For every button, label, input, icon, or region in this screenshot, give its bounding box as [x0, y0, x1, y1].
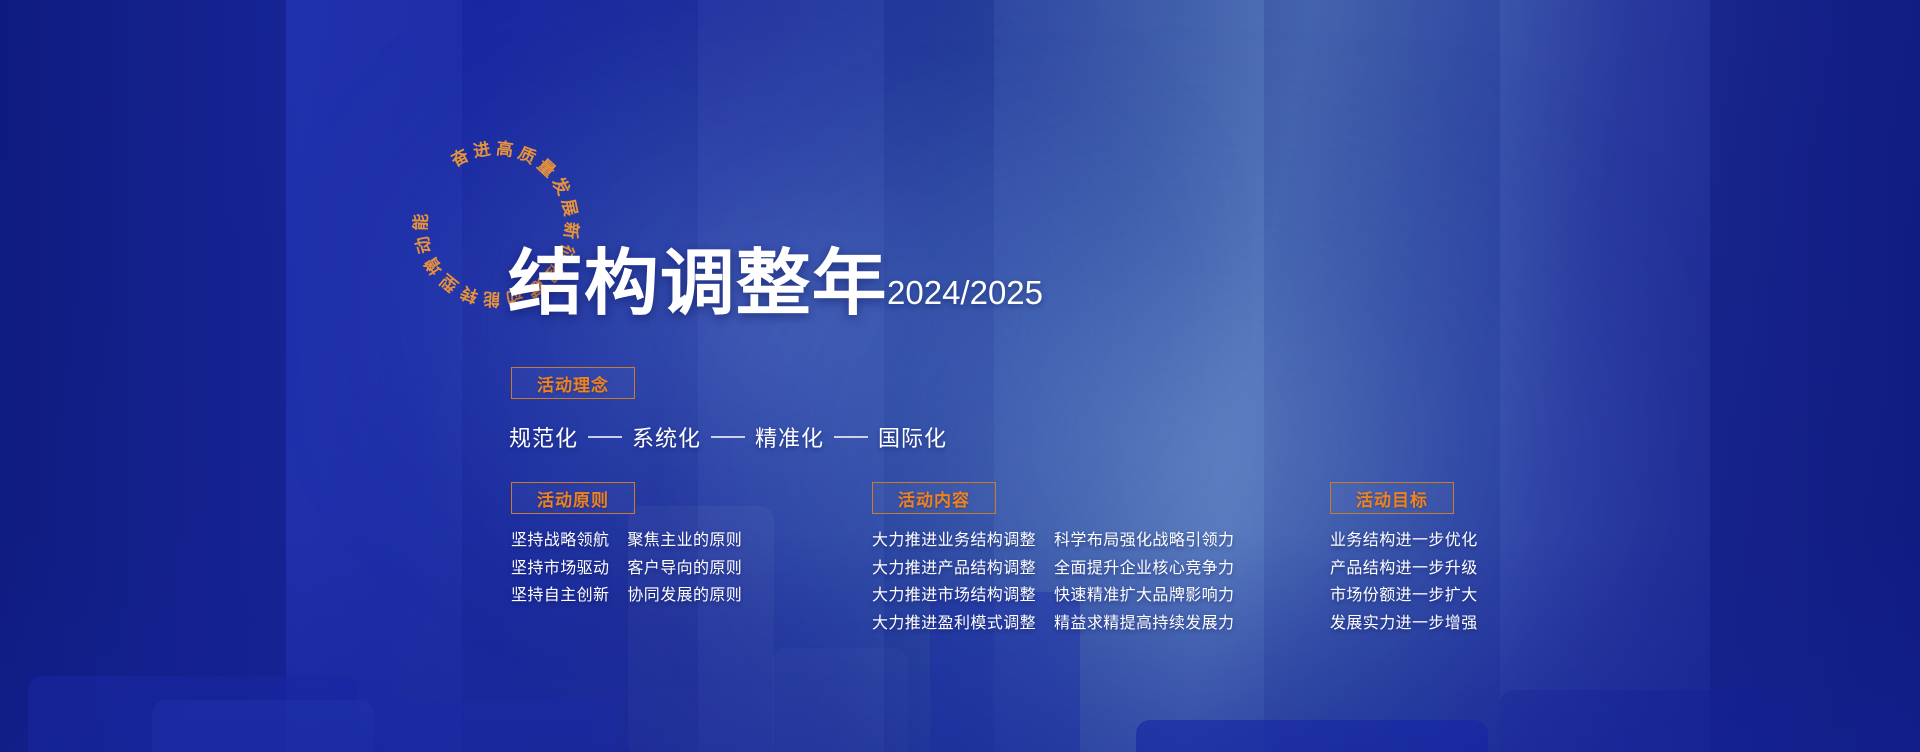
list-item-primary: 坚持战略领航: [511, 530, 609, 553]
emblem-char: 增: [419, 252, 446, 278]
list-item: 坚持自主创新协同发展的原则: [511, 585, 742, 608]
badge-activity-content[interactable]: 活动内容: [872, 482, 996, 514]
list-item: 产品结构进一步升级: [1330, 558, 1478, 581]
column-activity-goals: 活动目标 业务结构进一步优化产品结构进一步升级市场份额进一步扩大发展实力进一步增…: [1330, 482, 1478, 636]
list-item: 大力推进产品结构调整全面提升企业核心竞争力: [872, 558, 1234, 581]
list-item: 坚持市场驱动客户导向的原则: [511, 558, 742, 581]
list-item-secondary: 客户导向的原则: [627, 558, 742, 581]
list-item-secondary: 聚焦主业的原则: [627, 530, 742, 553]
list-item: 业务结构进一步优化: [1330, 530, 1478, 553]
column-activity-principles: 活动原则 坚持战略领航聚焦主业的原则坚持市场驱动客户导向的原则坚持自主创新协同发…: [511, 482, 742, 608]
list-item: 大力推进业务结构调整科学布局强化战略引领力: [872, 530, 1234, 553]
list-item: 大力推进盈利模式调整精益求精提高持续发展力: [872, 613, 1234, 636]
emblem-char: 进: [472, 139, 494, 161]
column-badge-wrap: 活动内容: [872, 482, 1234, 514]
column-rows: 大力推进业务结构调整科学布局强化战略引领力大力推进产品结构调整全面提升企业核心竞…: [872, 530, 1234, 636]
list-item-primary: 产品结构进一步升级: [1330, 558, 1478, 581]
list-item-primary: 大力推进盈利模式调整: [872, 613, 1036, 636]
badge-activity-concept[interactable]: 活动理念: [511, 367, 635, 399]
column-rows: 业务结构进一步优化产品结构进一步升级市场份额进一步扩大发展实力进一步增强: [1330, 530, 1478, 636]
column-activity-content: 活动内容 大力推进业务结构调整科学布局强化战略引领力大力推进产品结构调整全面提升…: [872, 482, 1234, 636]
emblem-char: 转: [456, 282, 481, 307]
list-item-secondary: 全面提升企业核心竞争力: [1054, 558, 1234, 581]
emblem-char: 展: [558, 197, 580, 219]
list-item: 大力推进市场结构调整快速精准扩大品牌影响力: [872, 585, 1234, 608]
badge-activity-goals[interactable]: 活动目标: [1330, 482, 1454, 514]
list-item-primary: 市场份额进一步扩大: [1330, 585, 1478, 608]
title-years: 2024/2025: [887, 274, 1043, 318]
emblem-char: 新: [560, 221, 582, 241]
list-item-primary: 坚持市场驱动: [511, 558, 609, 581]
concept-keyword: 系统化: [632, 421, 701, 453]
badge-activity-principles[interactable]: 活动原则: [511, 482, 635, 514]
emblem-char: 能: [481, 289, 501, 310]
concept-separator-dash: [711, 436, 745, 438]
emblem-char: 能: [410, 212, 431, 231]
concept-keyword: 规范化: [509, 421, 578, 453]
poster-banner: 奋进高质量发展新征程赋动能转型增动能 结构调整年 2024/2025 活动理念 …: [0, 0, 1920, 752]
concept-keyword: 国际化: [878, 421, 947, 453]
list-item-primary: 大力推进市场结构调整: [872, 585, 1036, 608]
list-item-primary: 发展实力进一步增强: [1330, 613, 1478, 636]
page-title: 结构调整年: [508, 250, 888, 318]
list-item-secondary: 精益求精提高持续发展力: [1054, 613, 1234, 636]
list-item: 发展实力进一步增强: [1330, 613, 1478, 636]
list-item-primary: 坚持自主创新: [511, 585, 609, 608]
concept-keyword: 精准化: [755, 421, 824, 453]
list-item: 市场份额进一步扩大: [1330, 585, 1478, 608]
list-item-primary: 大力推进业务结构调整: [872, 530, 1036, 553]
concept-keyword-line: 规范化系统化精准化国际化: [509, 421, 947, 453]
title-row: 结构调整年 2024/2025: [508, 250, 1043, 318]
emblem-char: 质: [515, 143, 540, 168]
emblem-char: 动: [412, 233, 435, 256]
emblem-char: 奋: [447, 144, 474, 171]
column-badge-wrap: 活动原则: [511, 482, 742, 514]
emblem-char: 高: [495, 138, 516, 160]
concept-separator-dash: [588, 436, 622, 438]
column-rows: 坚持战略领航聚焦主业的原则坚持市场驱动客户导向的原则坚持自主创新协同发展的原则: [511, 530, 742, 608]
concept-separator-dash: [834, 436, 868, 438]
column-badge-wrap: 活动目标: [1330, 482, 1478, 514]
list-item-primary: 业务结构进一步优化: [1330, 530, 1478, 553]
list-item-primary: 大力推进产品结构调整: [872, 558, 1036, 581]
list-item-secondary: 协同发展的原则: [627, 585, 742, 608]
list-item-secondary: 科学布局强化战略引领力: [1054, 530, 1234, 553]
list-item-secondary: 快速精准扩大品牌影响力: [1054, 585, 1234, 608]
list-item: 坚持战略领航聚焦主业的原则: [511, 530, 742, 553]
